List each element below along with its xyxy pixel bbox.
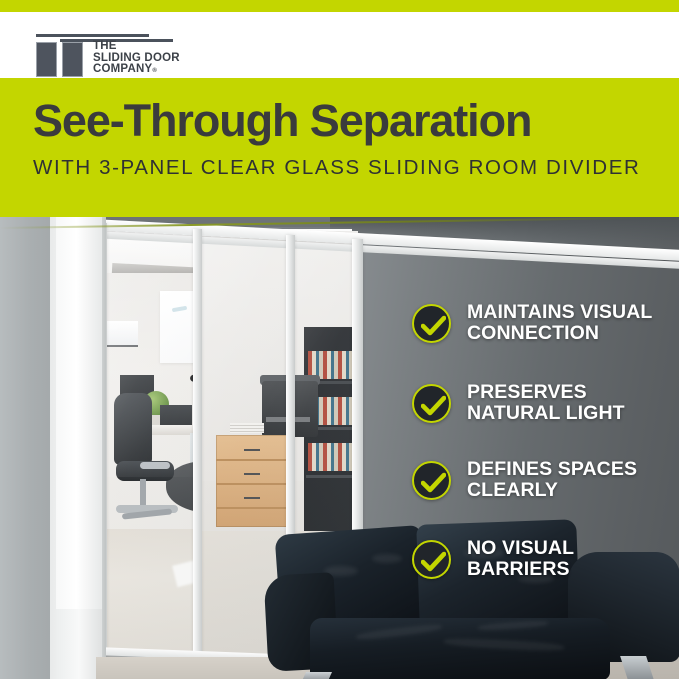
check-icon	[412, 540, 451, 579]
check-icon	[412, 384, 451, 423]
feature-item-no-visual-barriers: NO VISUAL BARRIERS	[412, 538, 574, 581]
check-icon	[412, 304, 451, 343]
advertisement-card: THE SLIDING DOOR COMPANY® See-Through Se…	[0, 0, 679, 679]
feature-label-line-1: DEFINES SPACES	[467, 459, 637, 480]
feature-label-line-2: BARRIERS	[467, 559, 574, 580]
feature-item-maintains-visual-connection: MAINTAINS VISUAL CONNECTION	[412, 302, 652, 345]
feature-label-line-2: NATURAL LIGHT	[467, 403, 625, 424]
feature-list: MAINTAINS VISUAL CONNECTION PRESERVES NA…	[0, 0, 679, 679]
feature-label-line-1: PRESERVES	[467, 382, 625, 403]
feature-label-line-2: CONNECTION	[467, 323, 652, 344]
feature-label: NO VISUAL BARRIERS	[467, 538, 574, 581]
feature-label: MAINTAINS VISUAL CONNECTION	[467, 302, 652, 345]
feature-item-defines-spaces-clearly: DEFINES SPACES CLEARLY	[412, 459, 637, 502]
feature-label: DEFINES SPACES CLEARLY	[467, 459, 637, 502]
feature-label-line-1: NO VISUAL	[467, 538, 574, 559]
feature-label-line-1: MAINTAINS VISUAL	[467, 302, 652, 323]
feature-item-preserves-natural-light: PRESERVES NATURAL LIGHT	[412, 382, 625, 425]
feature-label: PRESERVES NATURAL LIGHT	[467, 382, 625, 425]
check-icon	[412, 461, 451, 500]
feature-label-line-2: CLEARLY	[467, 480, 637, 501]
